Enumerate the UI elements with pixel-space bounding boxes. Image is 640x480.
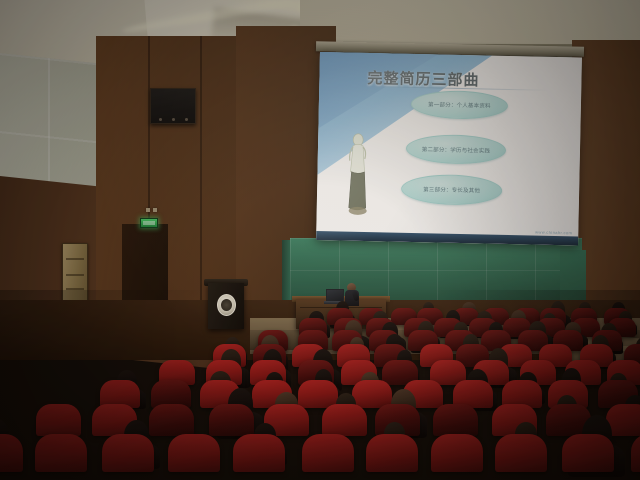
wall-speaker (150, 88, 196, 124)
auditorium-seat (35, 434, 87, 472)
auditorium-seat (433, 404, 478, 436)
auditorium-seat (562, 434, 614, 472)
auditorium-photo: 完整简历三部曲 第一部分：个人基本资料 第二部分：学历与社会实践 第三部分：专长… (0, 0, 640, 480)
auditorium-seat (233, 434, 285, 472)
auditorium-seat (149, 404, 194, 436)
auditorium-seat (168, 434, 220, 472)
wall-switch[interactable] (153, 208, 157, 212)
audience-seating (0, 300, 640, 480)
presentation-slide: 完整简历三部曲 第一部分：个人基本资料 第二部分：学历与社会实践 第三部分：专长… (316, 52, 582, 245)
auditorium-seat (302, 434, 354, 472)
auditorium-seat (495, 434, 547, 472)
wall-switch[interactable] (146, 208, 150, 212)
auditorium-seat (322, 404, 367, 436)
screen-glare (316, 52, 582, 245)
auditorium-seat (36, 404, 81, 436)
auditorium-seat (631, 434, 640, 472)
exit-sign-icon (140, 218, 158, 228)
auditorium-seat (0, 434, 23, 472)
auditorium-seat (209, 404, 254, 436)
auditorium-seat (431, 434, 483, 472)
auditorium-seat (102, 434, 154, 472)
projection-screen: 完整简历三部曲 第一部分：个人基本资料 第二部分：学历与社会实践 第三部分：专长… (316, 52, 582, 245)
auditorium-seat (366, 434, 418, 472)
